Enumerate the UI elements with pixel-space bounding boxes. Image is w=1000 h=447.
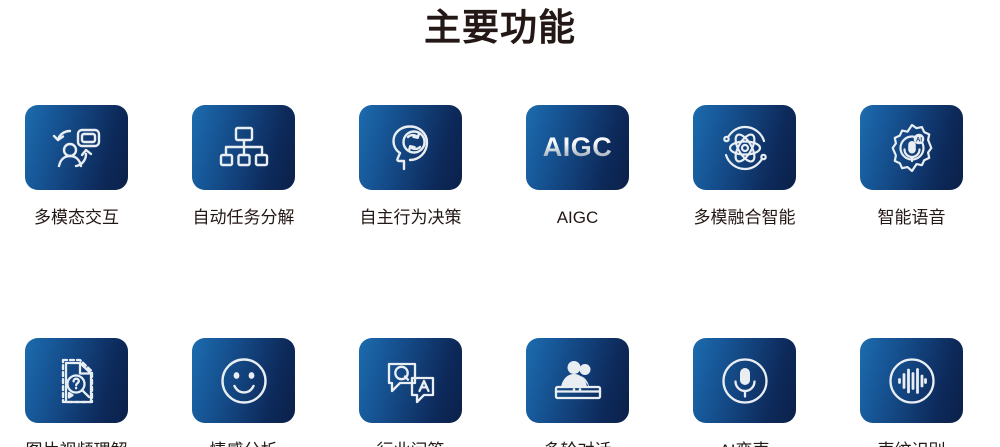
person-screen-arrows-icon xyxy=(50,124,104,172)
feature-tile[interactable] xyxy=(526,338,629,423)
feature-label: 多模融合智能 xyxy=(694,207,796,229)
feature-card-industry-qa[interactable]: 行业问答 xyxy=(359,338,462,447)
feature-label: AI变声 xyxy=(719,440,769,447)
feature-label: 声纹识别 xyxy=(878,440,946,447)
feature-row-1: 多模态交互 xyxy=(25,105,967,229)
feature-tile[interactable] xyxy=(693,105,796,190)
feature-card-aigc[interactable]: AIGC AIGC xyxy=(526,105,629,229)
feature-row-2: 图片视频理解 情感分析 xyxy=(25,338,967,447)
feature-tile[interactable]: AIGC xyxy=(526,105,629,190)
feature-card-ai-voice-changer[interactable]: AI变声 xyxy=(693,338,796,447)
atom-orbit-icon xyxy=(718,123,772,173)
feature-card-sentiment-analysis[interactable]: 情感分析 xyxy=(192,338,295,447)
head-cycle-icon xyxy=(386,124,436,172)
feature-grid: 多模态交互 xyxy=(25,105,975,447)
feature-label: 智能语音 xyxy=(878,207,946,229)
qa-speech-bubbles-icon xyxy=(384,357,438,405)
gear-microphone-ai-icon: AI xyxy=(886,123,938,173)
feature-label: 行业问答 xyxy=(377,440,445,447)
feature-tile[interactable] xyxy=(693,338,796,423)
feature-label: 图片视频理解 xyxy=(26,440,128,447)
feature-tile[interactable] xyxy=(192,105,295,190)
smiley-face-icon xyxy=(219,356,269,406)
feature-label: 情感分析 xyxy=(210,440,278,447)
feature-label: 多模态交互 xyxy=(34,207,119,229)
feature-tile[interactable] xyxy=(192,338,295,423)
feature-overview-page: 主要功能 xyxy=(0,0,1000,447)
feature-tile[interactable] xyxy=(359,105,462,190)
feature-card-multimodal-fusion[interactable]: 多模融合智能 xyxy=(693,105,796,229)
microphone-circle-icon xyxy=(720,356,770,406)
two-people-table-icon xyxy=(550,358,606,404)
feature-tile[interactable] xyxy=(25,338,128,423)
feature-tile[interactable] xyxy=(359,338,462,423)
feature-label: 自动任务分解 xyxy=(193,207,295,229)
feature-card-intelligent-voice[interactable]: AI 智能语音 xyxy=(860,105,963,229)
feature-card-multi-turn-dialogue[interactable]: 多轮对话 xyxy=(526,338,629,447)
feature-card-autonomous-decision[interactable]: 自主行为决策 xyxy=(359,105,462,229)
feature-label: AIGC xyxy=(557,207,599,229)
svg-text:AI: AI xyxy=(916,137,922,143)
feature-card-voiceprint-recognition[interactable]: 声纹识别 xyxy=(860,338,963,447)
feature-card-task-decomposition[interactable]: 自动任务分解 xyxy=(192,105,295,229)
feature-card-image-video-understanding[interactable]: 图片视频理解 xyxy=(25,338,128,447)
feature-tile[interactable]: AI xyxy=(860,105,963,190)
feature-tile[interactable] xyxy=(25,105,128,190)
voiceprint-waveform-circle-icon xyxy=(887,356,937,406)
document-magnifier-question-icon xyxy=(54,356,100,406)
feature-card-multimodal-interaction[interactable]: 多模态交互 xyxy=(25,105,128,229)
hierarchy-chart-icon xyxy=(219,125,269,171)
page-title: 主要功能 xyxy=(0,4,1000,52)
feature-tile[interactable] xyxy=(860,338,963,423)
feature-label: 多轮对话 xyxy=(544,440,612,447)
feature-label: 自主行为决策 xyxy=(360,207,462,229)
aigc-text-icon: AIGC xyxy=(543,134,613,161)
